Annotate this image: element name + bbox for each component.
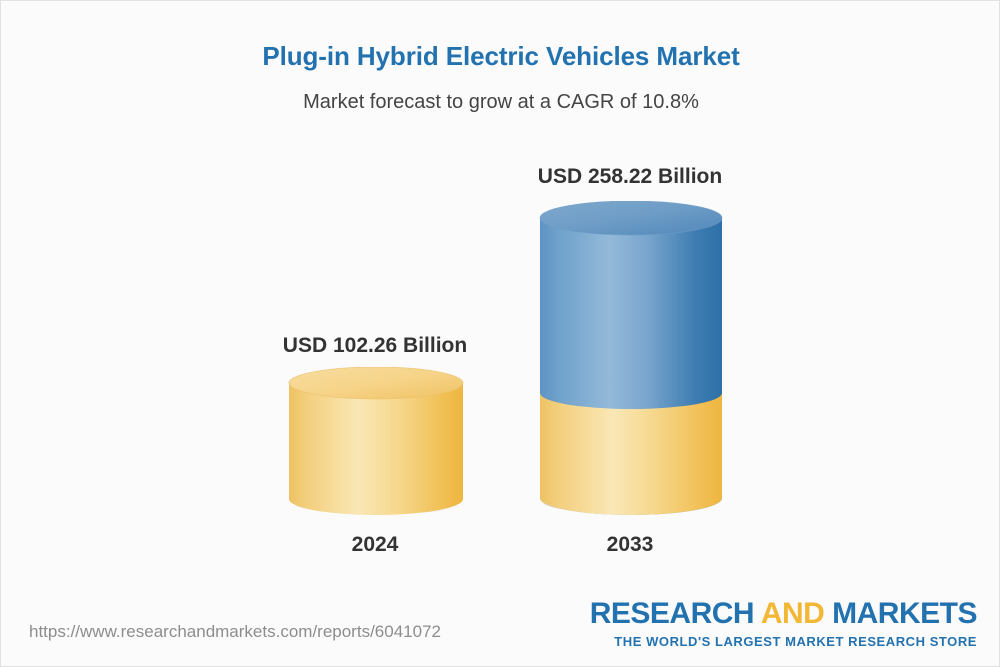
logo-wordmark: RESEARCH AND MARKETS <box>590 599 977 629</box>
data-label-2033: USD 258.22 Billion <box>440 165 820 189</box>
bar-cylinder-2033 <box>537 201 725 515</box>
logo-word-research: RESEARCH <box>590 597 754 630</box>
category-label-2024: 2024 <box>285 533 465 557</box>
logo-word-markets: MARKETS <box>832 597 977 630</box>
bar-cylinder-2024 <box>287 367 465 515</box>
research-and-markets-logo[interactable]: RESEARCH AND MARKETS THE WORLD'S LARGEST… <box>590 599 977 649</box>
source-url[interactable]: https://www.researchandmarkets.com/repor… <box>29 622 441 642</box>
logo-tagline: THE WORLD'S LARGEST MARKET RESEARCH STOR… <box>590 634 977 649</box>
chart-plot-area: USD 102.26 Billion USD 258.22 Billion <box>1 1 1000 601</box>
data-label-2024: USD 102.26 Billion <box>185 334 565 358</box>
logo-word-and: AND <box>754 597 832 630</box>
category-label-2033: 2033 <box>535 533 725 557</box>
chart-page: Plug-in Hybrid Electric Vehicles Market … <box>0 0 1000 667</box>
